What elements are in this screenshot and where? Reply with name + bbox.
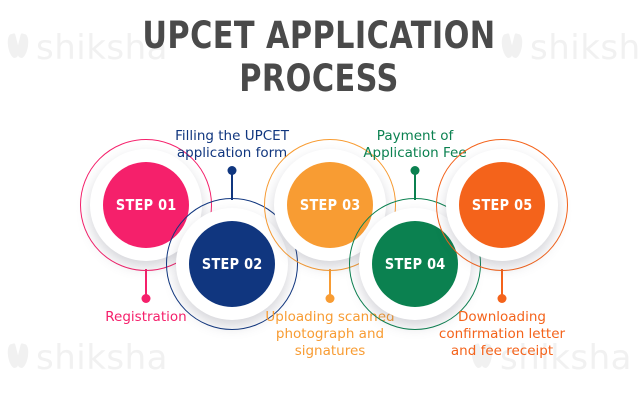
step-connector: [501, 269, 503, 299]
step-connector-dot: [326, 294, 335, 303]
step-connector: [231, 170, 233, 200]
step-badge-5[interactable]: STEP 05: [459, 162, 545, 248]
step-badge-label: STEP 05: [472, 196, 533, 214]
step-connector-dot: [142, 294, 151, 303]
step-badge-label: STEP 03: [300, 196, 361, 214]
step-connector: [414, 170, 416, 200]
step-connector-dot: [228, 166, 237, 175]
process-steps-layer: STEP 01RegistrationSTEP 02Filling the UP…: [0, 0, 638, 400]
step-connector-dot: [411, 166, 420, 175]
step-connector: [145, 269, 147, 299]
infographic-canvas: shiksha shiksha shiksha shiksha UPCET AP…: [0, 0, 638, 400]
step-connector-dot: [498, 294, 507, 303]
step-badge-label: STEP 04: [385, 255, 446, 273]
step-connector: [329, 269, 331, 299]
step-caption-5: Downloading confirmation letter and fee …: [407, 309, 597, 360]
step-badge-label: STEP 02: [202, 255, 263, 273]
step-badge-2[interactable]: STEP 02: [189, 221, 275, 307]
step-badge-label: STEP 01: [116, 196, 177, 214]
